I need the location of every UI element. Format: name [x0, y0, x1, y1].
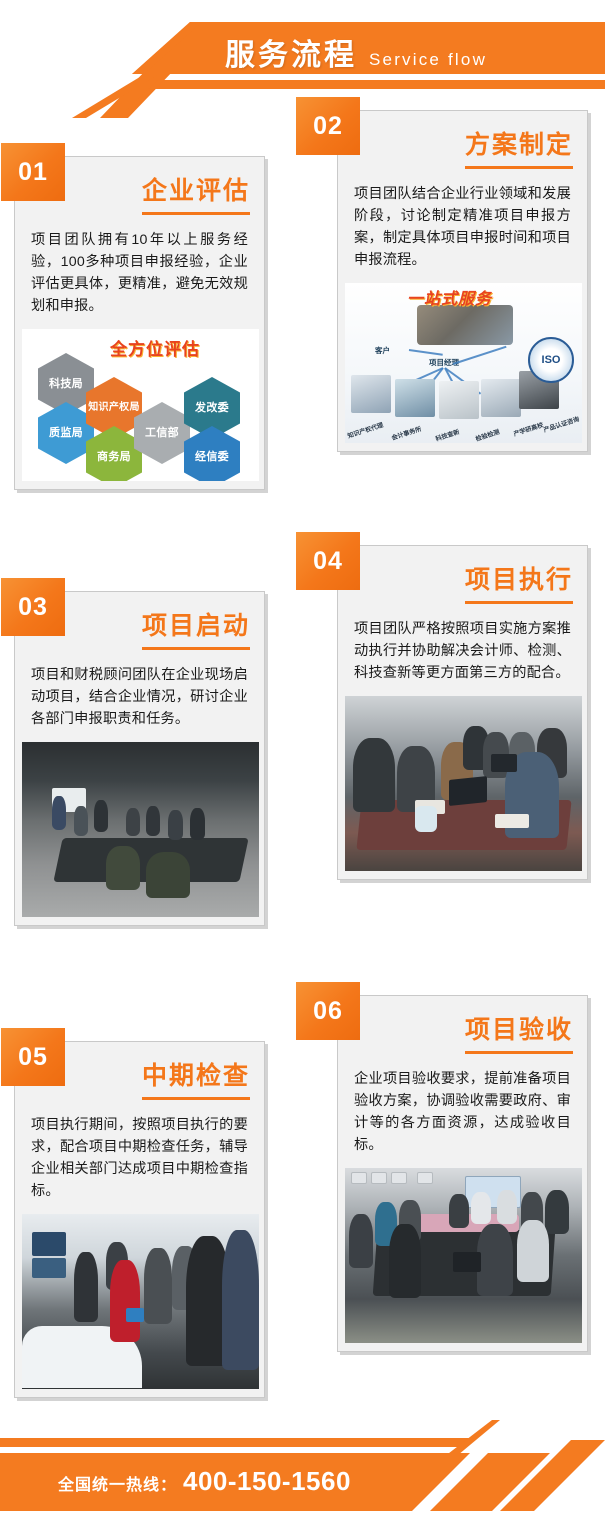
step-number-badge-02: 02 — [296, 97, 360, 155]
person-shape-1 — [52, 796, 66, 830]
brochure-shape — [126, 1308, 144, 1322]
card-media-05 — [15, 1214, 264, 1397]
person-shape-7 — [190, 808, 205, 840]
onestop-arrow-6 — [453, 346, 507, 365]
page-title: 服务流程 — [225, 30, 357, 74]
photo-project-acceptance — [345, 1168, 582, 1343]
card-media-03 — [15, 742, 264, 925]
wall-frame-1 — [351, 1172, 367, 1184]
person-shape-11 — [517, 1220, 549, 1282]
onestop-node-testing — [481, 379, 521, 417]
hex-diagram-title: 全方位评估 — [110, 335, 200, 360]
footer-hotline-group: 全国统一热线： 400-150-1560 — [58, 1466, 351, 1497]
grid-row-3: 05 中期检查 项目执行期间，按照项目执行的要求，配合项目中期检查任务，辅导企业… — [0, 995, 605, 1440]
card-header-06: 项目验收 — [338, 996, 587, 1054]
card-body-01: 项目团队拥有10年以上服务经验，100多种项目申报经验，企业评估更具体，更精准，… — [15, 215, 264, 329]
service-card-01[interactable]: 01 企业评估 项目团队拥有10年以上服务经验，100多种项目申报经验，企业评估… — [14, 156, 265, 490]
onestop-diagram: 一站式服务 客户 项目经理 ISO 知识产权代 — [345, 283, 582, 443]
person-shape-5 — [449, 1194, 469, 1228]
onestop-node-label-certification: 产品认证咨询 — [542, 414, 580, 434]
person-shape-5 — [146, 806, 160, 836]
laptop-shape — [453, 1252, 481, 1272]
footer-thin-stripe — [0, 1438, 475, 1447]
display-screen-2 — [32, 1258, 66, 1278]
hex-gongxin: 工信部 — [134, 402, 190, 464]
wall-frame-3 — [391, 1172, 407, 1184]
person-shape-10 — [477, 1224, 513, 1296]
paper-shape-2 — [495, 814, 529, 828]
card-header-02: 方案制定 — [338, 111, 587, 169]
hotline-label: 全国统一热线： — [58, 1471, 177, 1495]
wall-frame-2 — [371, 1172, 387, 1184]
hex-zhijian: 质监局 — [38, 402, 94, 464]
person-shape-6 — [168, 810, 183, 840]
card-body-04: 项目团队严格按照项目实施方案推动执行并协助解决会计师、检测、科技查新等更方面第三… — [338, 604, 587, 696]
page-subtitle: Service flow — [369, 50, 487, 70]
onestop-node-label-testing: 检验检测 — [474, 427, 500, 443]
step-number-badge-03: 03 — [1, 578, 65, 636]
onestop-node-ip — [351, 375, 391, 413]
person-shape-7 — [497, 1190, 517, 1224]
person-shape-1 — [353, 738, 395, 812]
service-card-04[interactable]: 04 项目执行 项目团队严格按照项目实施方案推动执行并协助解决会计师、检测、科技… — [337, 545, 588, 880]
card-body-02: 项目团队结合企业行业领域和发展阶段，讨论制定精准项目申报方案，制定具体项目申报时… — [338, 169, 587, 283]
hex-jingxin: 经信委 — [184, 426, 240, 481]
person-shape-1 — [74, 1252, 98, 1322]
onestop-hub-photo — [417, 305, 513, 345]
onestop-certification-seal: ISO — [528, 337, 574, 383]
card-title-03: 项目启动 — [142, 606, 250, 650]
wall-frame-4 — [417, 1172, 433, 1184]
card-body-05: 项目执行期间，按照项目执行的要求，配合项目中期检查任务，辅导企业相关部门达成项目… — [15, 1100, 264, 1214]
onestop-node-search — [439, 381, 479, 419]
header-title-group: 服务流程 Service flow — [225, 30, 487, 74]
service-card-05[interactable]: 05 中期检查 项目执行期间，按照项目执行的要求，配合项目中期检查任务，辅导企业… — [14, 1041, 265, 1398]
photo-midterm-inspection — [22, 1214, 259, 1389]
step-number-badge-05: 05 — [1, 1028, 65, 1086]
photo-project-kickoff — [22, 742, 259, 917]
card-title-06: 项目验收 — [465, 1010, 573, 1054]
card-title-01: 企业评估 — [142, 171, 250, 215]
step-number-badge-04: 04 — [296, 532, 360, 590]
service-card-06[interactable]: 06 项目验收 企业项目验收要求，提前准备项目验收方案，协调验收需要政府、审计等… — [337, 995, 588, 1352]
person-shape-1 — [349, 1214, 373, 1268]
onestop-node-accounting — [395, 379, 435, 417]
person-shape-3 — [94, 800, 108, 832]
service-card-02[interactable]: 02 方案制定 项目团队结合企业行业领域和发展阶段，讨论制定精准项目申报方案，制… — [337, 110, 588, 452]
photo-project-execution — [345, 696, 582, 871]
person-shape-4 — [126, 808, 140, 836]
hex-diagram: 全方位评估 科技局 质监局 知识产权局 商务局 工信部 发改委 经信委 — [22, 329, 259, 481]
onestop-label-customer: 客户 — [375, 345, 390, 356]
card-body-06: 企业项目验收要求，提前准备项目验收方案，协调验收需要政府、审计等的各方面资源，达… — [338, 1054, 587, 1168]
person-shape-9 — [545, 1190, 569, 1234]
hotline-number[interactable]: 400-150-1560 — [183, 1466, 351, 1497]
card-body-03: 项目和财税顾问团队在企业现场启动项目，结合企业情况，研讨企业各部门申报职责和任务… — [15, 650, 264, 742]
card-media-02: 一站式服务 客户 项目经理 ISO 知识产权代 — [338, 283, 587, 451]
grid-row-2: 03 项目启动 项目和财税顾问团队在企业现场启动项目，结合企业情况，研讨企业各部… — [0, 545, 605, 995]
person-shape-red — [110, 1260, 140, 1342]
hex-shangwu: 商务局 — [86, 426, 142, 481]
service-card-03[interactable]: 03 项目启动 项目和财税顾问团队在企业现场启动项目，结合企业情况，研讨企业各部… — [14, 591, 265, 926]
onestop-node-label-ip: 知识产权代理 — [346, 420, 384, 440]
onestop-node-label-university: 产学研高校 — [512, 420, 544, 438]
laptop-shape-2 — [491, 754, 517, 772]
card-media-06 — [338, 1168, 587, 1351]
card-title-05: 中期检查 — [142, 1056, 250, 1100]
card-title-02: 方案制定 — [465, 125, 573, 169]
person-shape-9 — [146, 852, 190, 898]
bag-shape — [415, 806, 437, 832]
step-number-badge-01: 01 — [1, 143, 65, 201]
person-shape-2 — [74, 806, 88, 836]
header-thin-stripe — [148, 80, 605, 89]
step-number-badge-06: 06 — [296, 982, 360, 1040]
card-media-04 — [338, 696, 587, 879]
display-screen-1 — [32, 1232, 66, 1256]
onestop-node-label-search: 科技查新 — [434, 427, 460, 443]
person-shape-8 — [106, 846, 140, 890]
card-media-01: 全方位评估 科技局 质监局 知识产权局 商务局 工信部 发改委 经信委 — [15, 329, 264, 489]
laptop-shape-1 — [449, 776, 487, 806]
card-title-04: 项目执行 — [465, 560, 573, 604]
grid-row-1: 01 企业评估 项目团队拥有10年以上服务经验，100多种项目申报经验，企业评估… — [0, 110, 605, 545]
onestop-arrow-1 — [409, 349, 443, 356]
person-shape-3 — [144, 1248, 172, 1324]
card-header-04: 项目执行 — [338, 546, 587, 604]
person-shape-6 — [471, 1192, 491, 1224]
person-shape-4 — [389, 1224, 421, 1298]
onestop-diagram-title: 一站式服务 — [407, 285, 492, 309]
page-footer: 全国统一热线： 400-150-1560 — [0, 1420, 605, 1538]
person-shape-6 — [222, 1230, 259, 1370]
onestop-node-label-accounting: 会计事务所 — [390, 424, 422, 442]
service-flow-grid: 01 企业评估 项目团队拥有10年以上服务经验，100多种项目申报经验，企业评估… — [0, 110, 605, 1440]
